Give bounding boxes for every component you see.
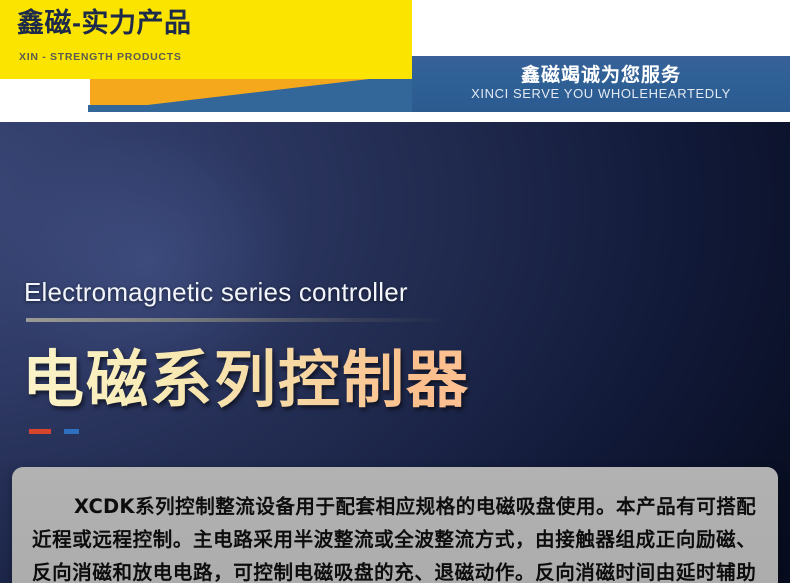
service-slogan-en: XINCI SERVE YOU WHOLEHEARTEDLY [412, 86, 790, 101]
description-panel: XCDK系列控制整流设备用于配套相应规格的电磁吸盘使用。本产品有可搭配近程或远程… [12, 467, 778, 583]
hero-title-en: Electromagnetic series controller [24, 277, 408, 308]
brand-title-cn: 鑫磁-实力产品 [17, 8, 192, 39]
hero-divider-line [26, 318, 442, 322]
hero-section: Electromagnetic series controller 电磁系列控制… [0, 122, 790, 583]
header-blue-strip [88, 105, 412, 112]
page-header: 鑫磁-实力产品 XIN - STRENGTH PRODUCTS 鑫磁竭诚为您服务… [0, 0, 790, 122]
hero-title-cn: 电磁系列控制器 [22, 329, 470, 419]
product-banner-page: 鑫磁-实力产品 XIN - STRENGTH PRODUCTS 鑫磁竭诚为您服务… [0, 0, 790, 583]
service-slogan-cn: 鑫磁竭诚为您服务 [412, 60, 790, 87]
accent-dash-red [29, 429, 51, 434]
brand-title-en: XIN - STRENGTH PRODUCTS [19, 51, 182, 63]
accent-dashes [29, 429, 79, 434]
description-text: XCDK系列控制整流设备用于配套相应规格的电磁吸盘使用。本产品有可搭配近程或远程… [32, 490, 756, 583]
header-yellow-block: 鑫磁-实力产品 XIN - STRENGTH PRODUCTS [0, 0, 412, 79]
accent-dash-blue [64, 429, 79, 434]
